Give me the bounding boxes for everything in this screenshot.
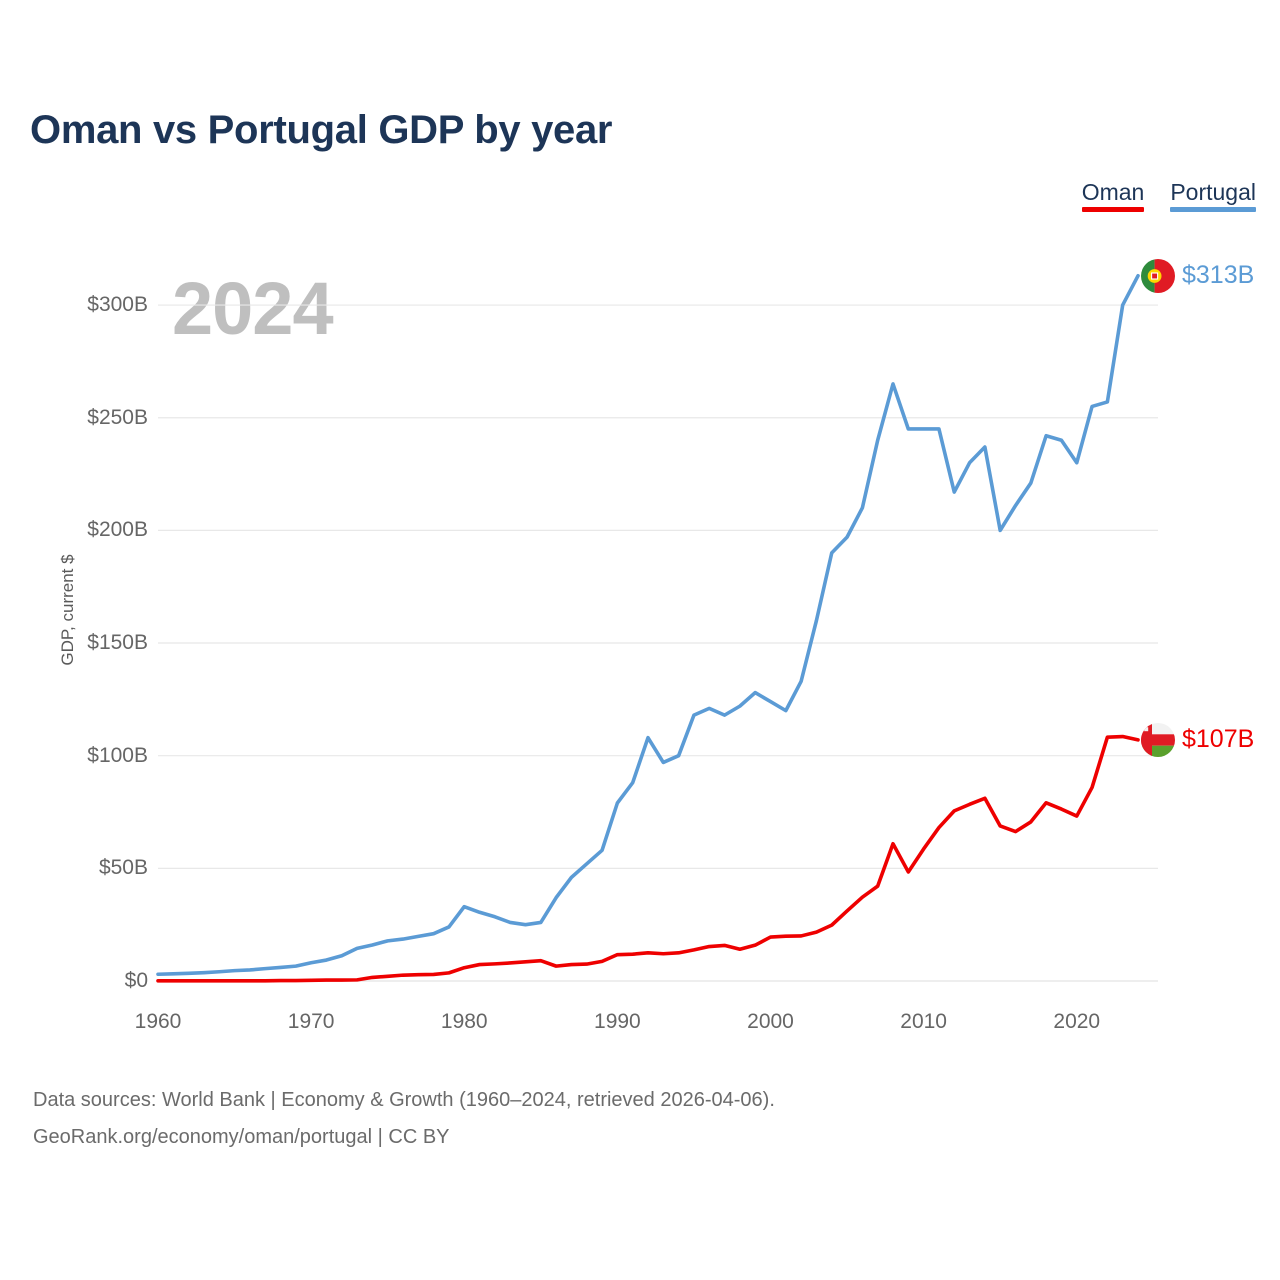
x-tick-label: 2020: [1053, 1010, 1100, 1034]
y-tick-label: $50B: [99, 856, 148, 880]
y-tick-label: $150B: [87, 631, 148, 655]
legend-label-oman: Oman: [1082, 180, 1145, 204]
oman-flag-icon: [1141, 723, 1175, 757]
y-tick-label: $100B: [87, 744, 148, 768]
x-tick-label: 1990: [594, 1010, 641, 1034]
series-line-oman: [158, 737, 1138, 981]
legend-swatch-portugal: [1170, 207, 1256, 212]
chart-container: Oman vs Portugal GDP by year Oman Portug…: [0, 0, 1280, 1280]
legend-label-portugal: Portugal: [1170, 180, 1256, 204]
legend-item-portugal[interactable]: Portugal: [1170, 180, 1256, 212]
footer-line-1: Data sources: World Bank | Economy & Gro…: [33, 1082, 775, 1119]
y-tick-label: $300B: [87, 293, 148, 317]
x-tick-label: 1970: [288, 1010, 335, 1034]
x-tick-label: 1960: [135, 1010, 182, 1034]
x-tick-label: 1980: [441, 1010, 488, 1034]
legend-item-oman[interactable]: Oman: [1082, 180, 1145, 212]
year-watermark: 2024: [172, 272, 333, 346]
series-line-portugal: [158, 276, 1138, 974]
end-value-oman: $107B: [1182, 725, 1254, 754]
chart-legend: Oman Portugal: [1082, 180, 1256, 212]
y-tick-label: $0: [125, 969, 148, 993]
y-tick-label: $250B: [87, 406, 148, 430]
footer-line-2: GeoRank.org/economy/oman/portugal | CC B…: [33, 1119, 775, 1156]
portugal-flag-icon: [1141, 259, 1175, 293]
y-tick-label: $200B: [87, 518, 148, 542]
x-tick-label: 2000: [747, 1010, 794, 1034]
footer-attribution: Data sources: World Bank | Economy & Gro…: [33, 1082, 775, 1156]
x-tick-label: 2010: [900, 1010, 947, 1034]
end-value-portugal: $313B: [1182, 261, 1254, 290]
legend-swatch-oman: [1082, 207, 1145, 212]
